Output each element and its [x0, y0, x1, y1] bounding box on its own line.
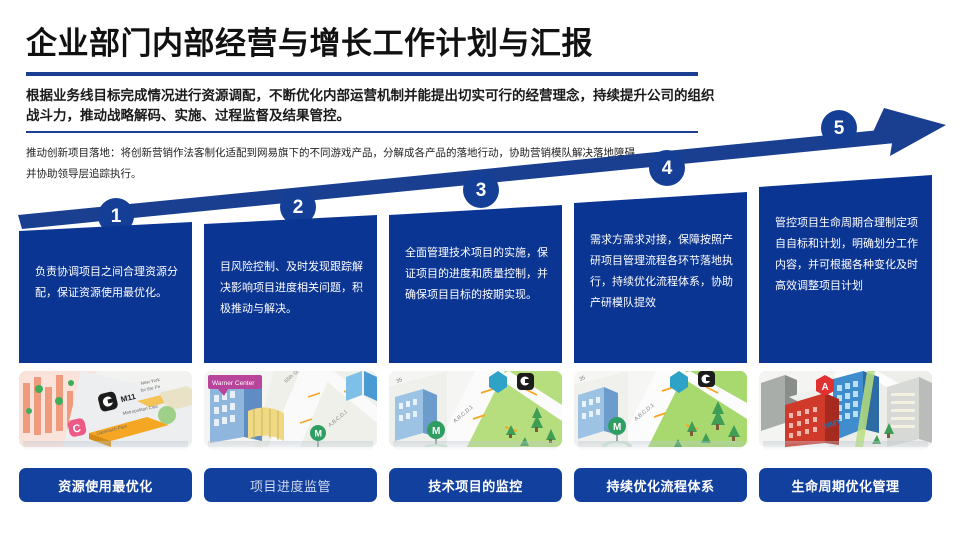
svg-text:Warner Center: Warner Center: [212, 380, 255, 387]
page-title: 企业部门内部经营与增长工作计划与汇报: [26, 18, 593, 63]
step-label-4: 持续优化流程体系: [606, 476, 714, 495]
thumbnail-reflection-3: [393, 441, 558, 451]
step-label-5: 生命周期优化管理: [791, 476, 899, 495]
isometric-park-map-thumbnail: M 35 A,B,C,D,1: [574, 371, 747, 447]
step-column-5[interactable]: 管控项目生命周期合理制定项自自标和计划，明确划分工作内容，并可根据各种变化及时高…: [759, 175, 932, 363]
title-divider: [26, 72, 698, 76]
sub-paragraph: 推动创新项目落地：将创新营销作法客制化适配到网易旗下的不同游戏产品，分解成各产品…: [26, 143, 646, 185]
step-body-text-3: 全面管理技术项目的实施，保证项目的进度和质量控制，并确保项目目标的按期实现。: [405, 243, 548, 306]
step-body-panel-2: 目风险控制、及时发现跟踪解决影响项目进度相关问题，积极推动与解决。: [204, 215, 377, 363]
step-body-panel-5: 管控项目生命周期合理制定项自自标和计划，明确划分工作内容，并可根据各种变化及时高…: [759, 175, 932, 363]
lead-divider: [26, 131, 698, 133]
step-column-3[interactable]: 全面管理技术项目的实施，保证项目的进度和质量控制，并确保项目目标的按期实现。: [389, 205, 562, 363]
isometric-city-map-thumbnail: M11 C New York for the Pe Metropolitan C…: [19, 371, 192, 447]
step-column-4[interactable]: 需求方需求对接，保障按照产研项目管理流程各环节落地执行，持续优化流程体系，协助产…: [574, 192, 747, 363]
svg-text:M: M: [613, 422, 621, 433]
step-label-pill-3[interactable]: 技术项目的监控: [389, 468, 562, 502]
step-number-3: 3: [476, 181, 487, 200]
step-body-panel-4: 需求方需求对接，保障按照产研项目管理流程各环节落地执行，持续优化流程体系，协助产…: [574, 192, 747, 363]
step-number-2: 2: [293, 198, 304, 217]
step-circle-4[interactable]: 4: [649, 150, 685, 186]
step-body-text-4: 需求方需求对接，保障按照产研项目管理流程各环节落地执行，持续优化流程体系，协助产…: [590, 230, 733, 314]
isometric-office-buildings-thumbnail: Warner Center M 65th St A,B,C,D,1: [204, 371, 377, 447]
svg-text:A: A: [822, 382, 829, 393]
step-label-3: 技术项目的监控: [428, 476, 523, 495]
isometric-downtown-towers-thumbnail: NMT A: [759, 371, 932, 447]
slide-canvas: 企业部门内部经营与增长工作计划与汇报 根据业务线目标完成情况进行资源调配，不断优…: [0, 0, 960, 540]
step-circle-5[interactable]: 5: [821, 110, 857, 146]
step-label-1: 资源使用最优化: [58, 476, 153, 495]
step-body-text-2: 目风险控制、及时发现跟踪解决影响项目进度相关问题，积极推动与解决。: [220, 257, 363, 320]
step-label-2: 项目进度监管: [250, 476, 331, 495]
thumbnail-reflection-4: [578, 441, 743, 451]
thumbnail-reflection-2: [208, 441, 373, 451]
step-body-text-5: 管控项目生命周期合理制定项自自标和计划，明确划分工作内容，并可根据各种变化及时高…: [775, 213, 918, 297]
step-body-panel-1: 负责协调项目之间合理资源分配，保证资源使用最优化。: [19, 222, 192, 363]
isometric-street-crossing-thumbnail: M 35 A,B,C,D,1: [389, 371, 562, 447]
lead-paragraph: 根据业务线目标完成情况进行资源调配，不断优化内部运营机制并能提出切实可行的经营理…: [26, 86, 726, 126]
step-label-pill-5[interactable]: 生命周期优化管理: [759, 468, 932, 502]
step-column-2[interactable]: 目风险控制、及时发现跟踪解决影响项目进度相关问题，积极推动与解决。: [204, 215, 377, 363]
step-column-1[interactable]: 负责协调项目之间合理资源分配，保证资源使用最优化。: [19, 222, 192, 363]
svg-text:M: M: [315, 429, 323, 439]
svg-text:M: M: [432, 426, 440, 437]
step-body-panel-3: 全面管理技术项目的实施，保证项目的进度和质量控制，并确保项目目标的按期实现。: [389, 205, 562, 363]
step-number-5: 5: [834, 119, 845, 138]
step-label-pill-2[interactable]: 项目进度监管: [204, 468, 377, 502]
step-label-pill-4[interactable]: 持续优化流程体系: [574, 468, 747, 502]
step-number-4: 4: [662, 159, 673, 178]
thumbnail-reflection-5: [763, 441, 928, 451]
step-body-text-1: 负责协调项目之间合理资源分配，保证资源使用最优化。: [35, 262, 178, 304]
step-circle-3[interactable]: 3: [463, 172, 499, 208]
step-label-pill-1[interactable]: 资源使用最优化: [19, 468, 192, 502]
thumbnail-reflection-1: [23, 441, 188, 451]
